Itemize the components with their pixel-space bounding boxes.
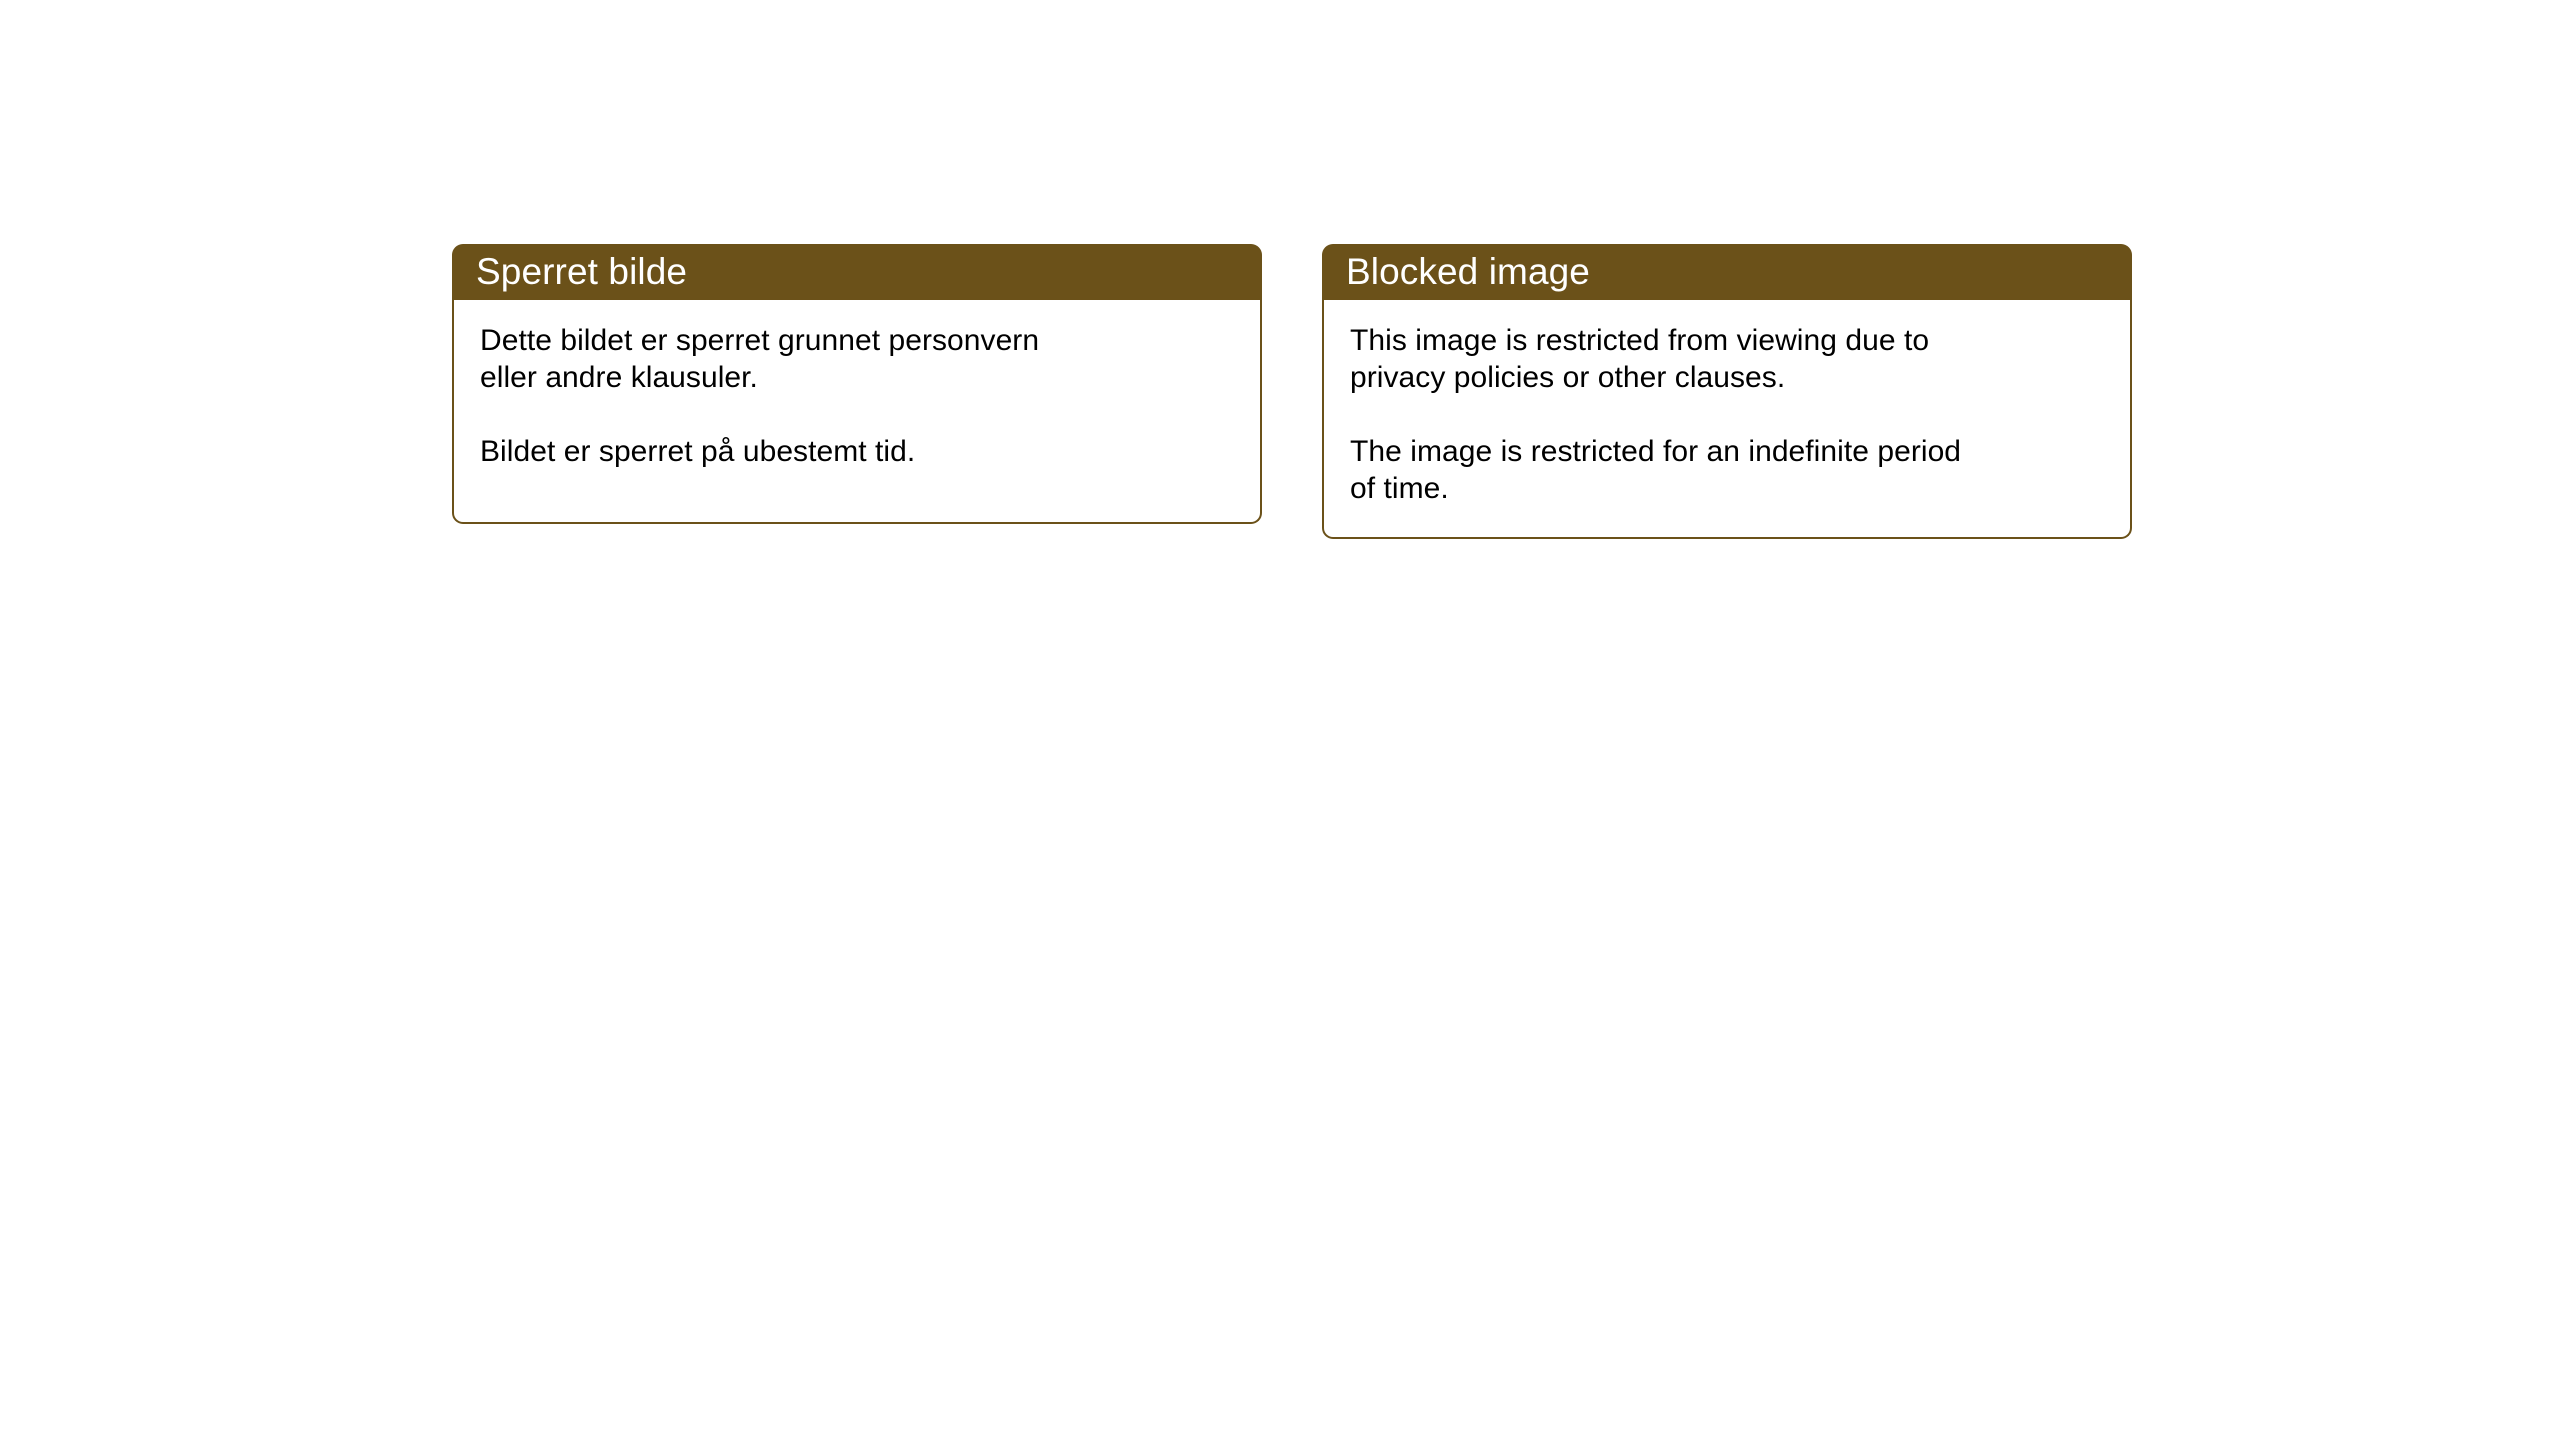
notice-paragraph-no-1: Dette bildet er sperret grunnet personve… — [480, 322, 1234, 396]
page-canvas: Sperret bilde Dette bildet er sperret gr… — [0, 0, 2560, 1440]
notice-paragraph-no-2: Bildet er sperret på ubestemt tid. — [480, 433, 1234, 470]
blocked-image-notice-no: Sperret bilde Dette bildet er sperret gr… — [452, 244, 1262, 524]
paragraph-spacer-en — [1350, 396, 2104, 433]
notice-paragraph-en-2: The image is restricted for an indefinit… — [1350, 433, 2104, 507]
paragraph-spacer-no — [480, 396, 1234, 433]
notice-header-no: Sperret bilde — [452, 244, 1262, 300]
notice-title-en: Blocked image — [1346, 252, 1590, 292]
notice-body-no: Dette bildet er sperret grunnet personve… — [452, 300, 1262, 524]
blocked-image-notice-en: Blocked image This image is restricted f… — [1322, 244, 2132, 539]
notice-title-no: Sperret bilde — [476, 252, 687, 292]
notice-paragraph-en-1: This image is restricted from viewing du… — [1350, 322, 2104, 396]
notice-header-en: Blocked image — [1322, 244, 2132, 300]
notice-body-en: This image is restricted from viewing du… — [1322, 300, 2132, 539]
